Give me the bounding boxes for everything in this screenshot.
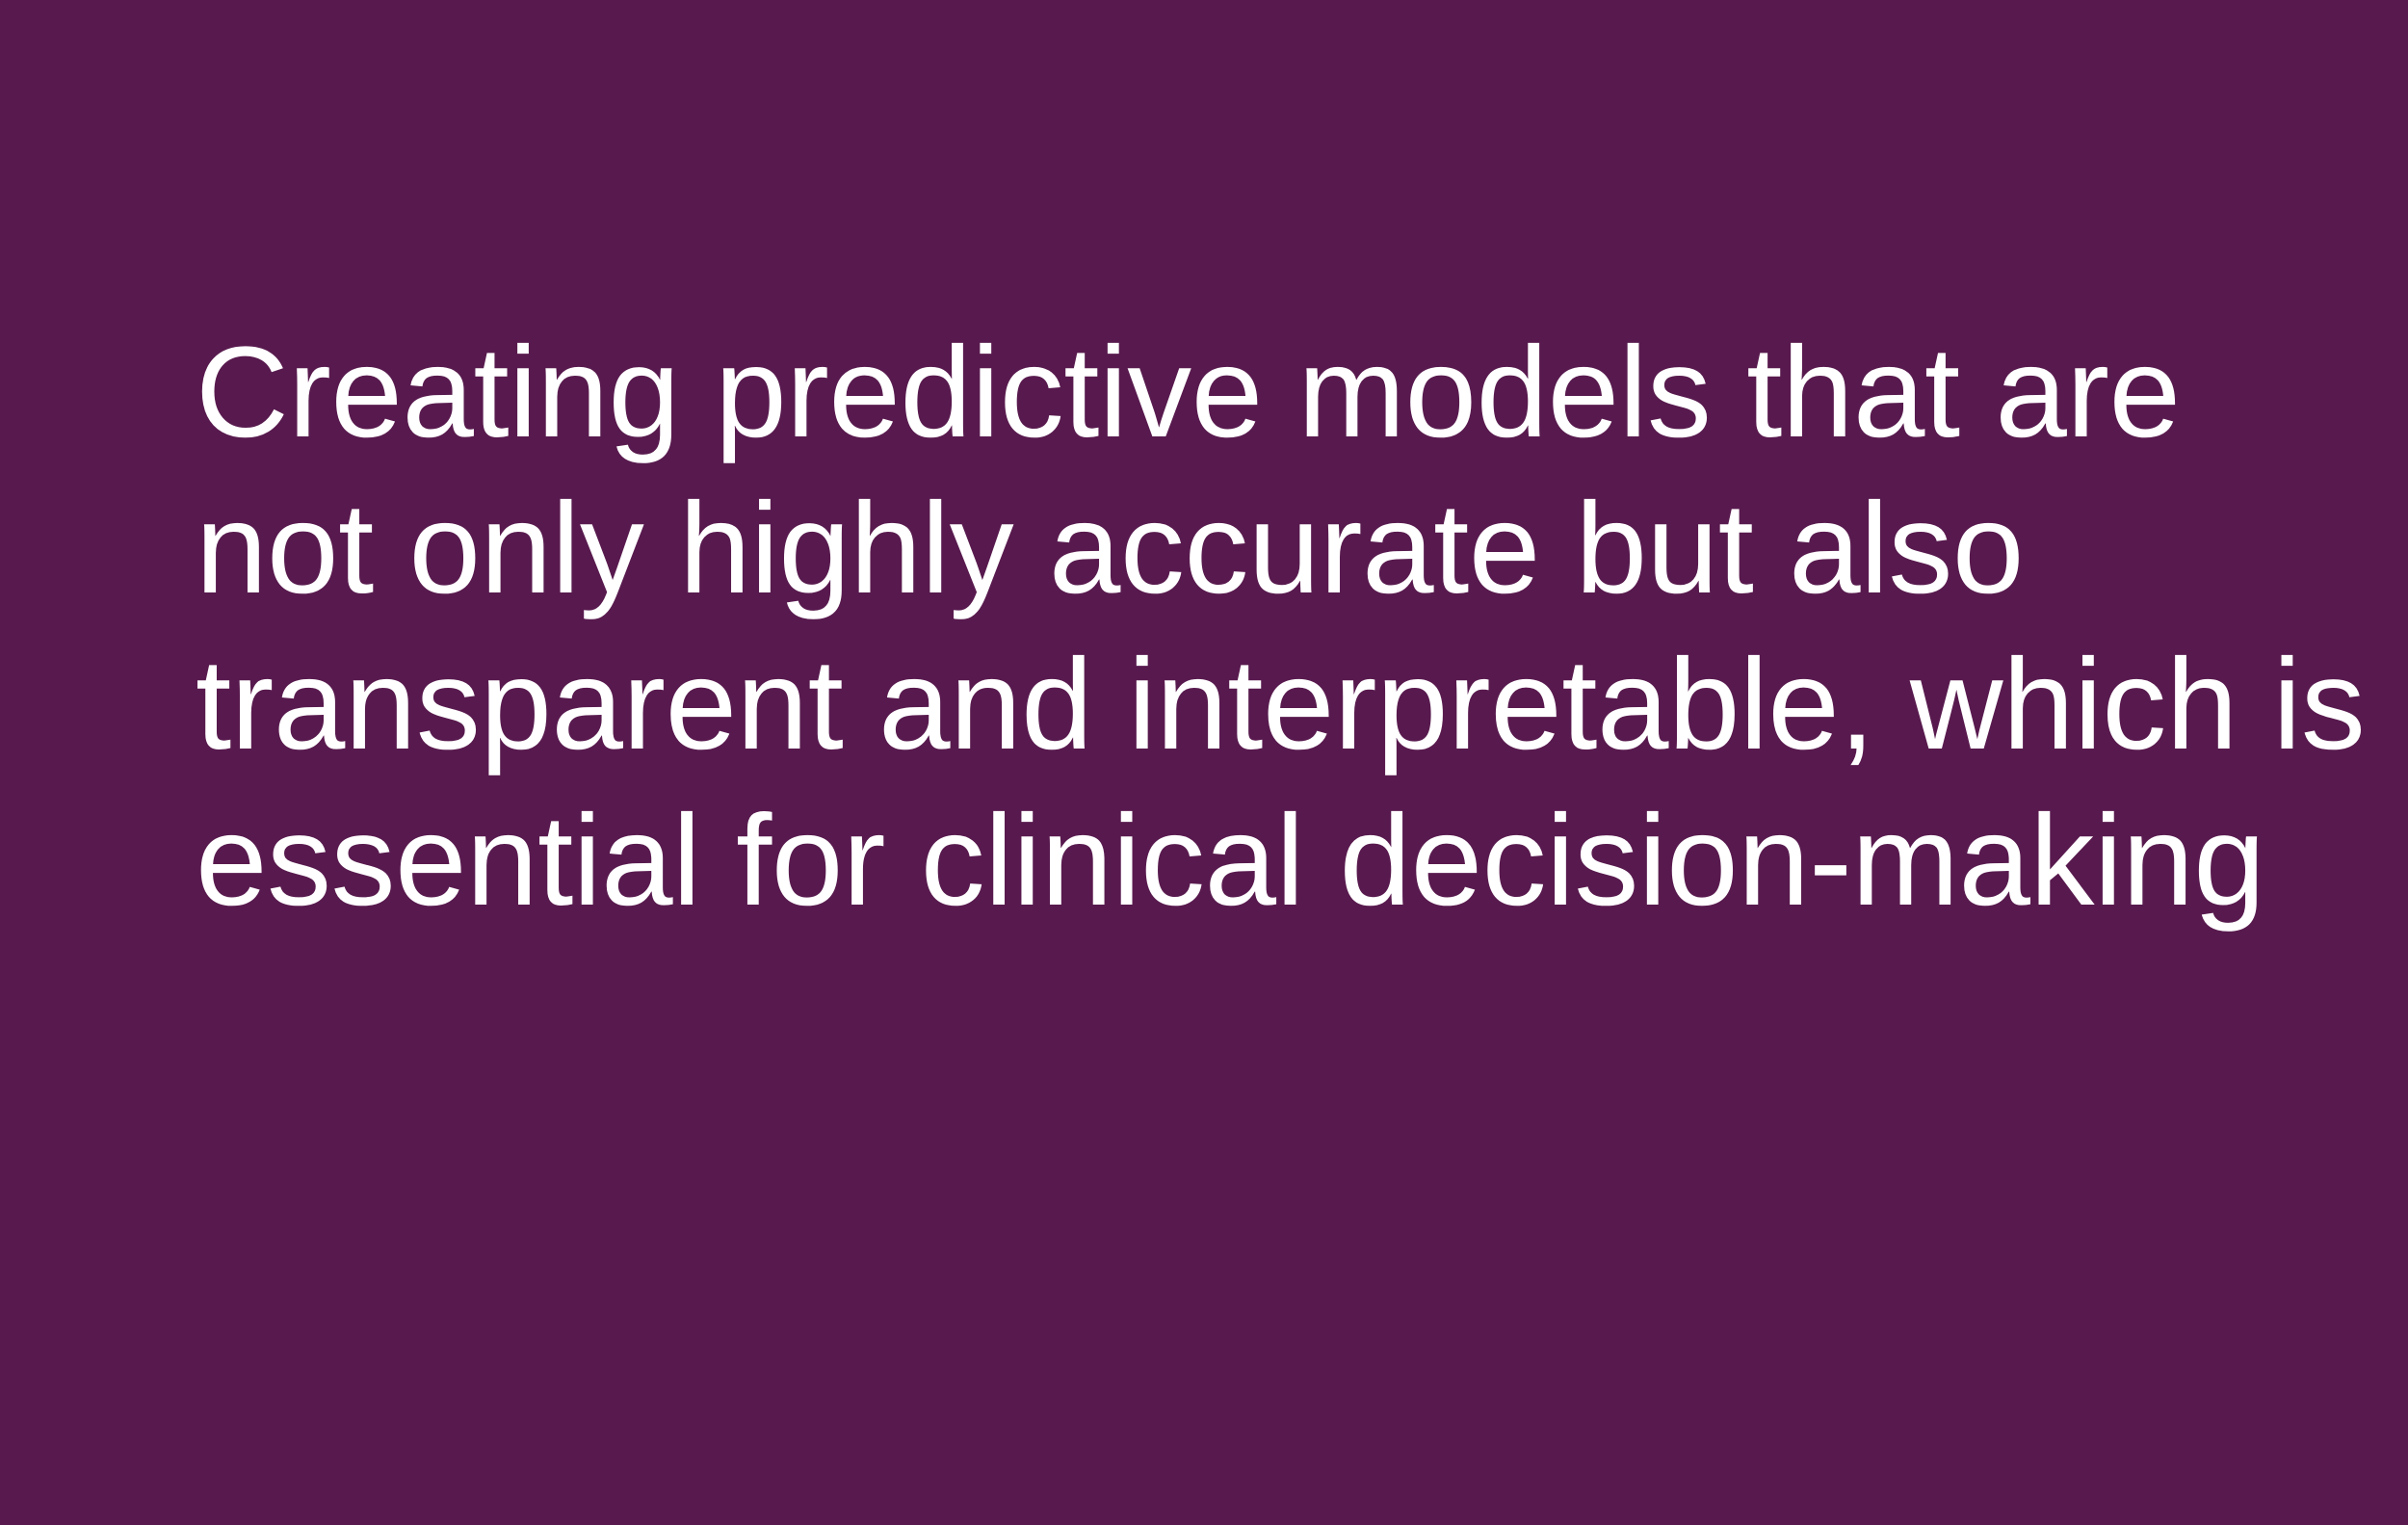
quote-line-1: Creating predictive models that are <box>196 315 2228 471</box>
quote-text-block: Creating predictive models that are not … <box>196 315 2228 939</box>
quote-line-4: essential for clinical decision-making <box>196 783 2228 939</box>
quote-card: Creating predictive models that are not … <box>0 0 2408 1525</box>
quote-line-3: transparent and interpretable, which is <box>196 627 2228 783</box>
quote-line-2: not only highly accurate but also <box>196 471 2228 627</box>
